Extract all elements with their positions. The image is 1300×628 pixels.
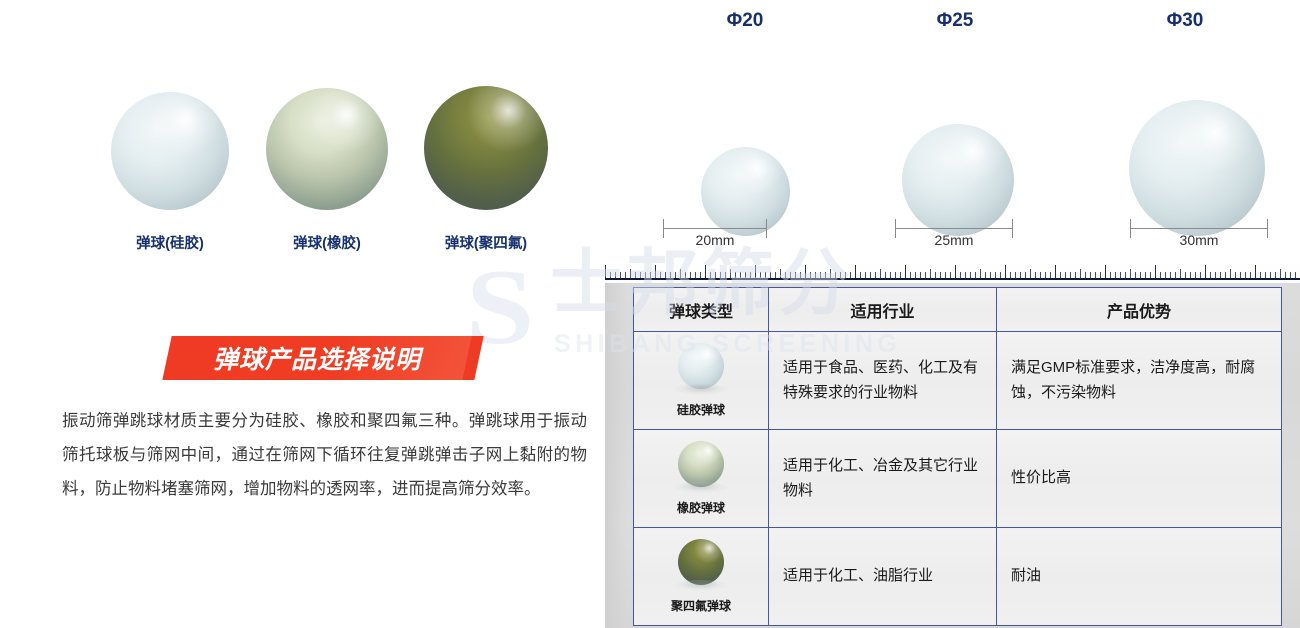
ruler-tick — [1265, 272, 1266, 278]
size-ball-20mm — [685, 147, 805, 236]
table-cell-advantage-silicone: 满足GMP标准要求，洁净度高，耐腐蚀，不污染物料 — [997, 332, 1282, 430]
ruler-tick — [1020, 272, 1021, 278]
ruler-tick — [1115, 272, 1116, 278]
ruler-tick — [785, 272, 786, 278]
ruler-tick — [670, 272, 671, 278]
table-row: 硅胶弹球 适用于食品、医药、化工及有特殊要求的行业物料 满足GMP标准要求，洁净… — [634, 332, 1282, 430]
ruler-tick — [1040, 272, 1041, 278]
ruler-tick — [1025, 272, 1026, 278]
table-cell-industry-rubber: 适用于化工、冶金及其它行业物料 — [769, 430, 997, 528]
ruler-tick — [655, 265, 656, 278]
ruler-tick — [735, 272, 736, 278]
rubber-ball-image — [266, 88, 388, 210]
ruler-tick — [740, 272, 741, 278]
table-ball-label-ptfe: 聚四氟弹球 — [638, 597, 764, 614]
dimension-line — [895, 228, 1013, 229]
ruler-tick — [780, 269, 781, 278]
table-header-type: 弹球类型 — [634, 288, 769, 332]
ruler-tick — [790, 272, 791, 278]
ruler-tick — [885, 272, 886, 278]
ruler-tick — [820, 272, 821, 278]
ruler-tick — [1180, 269, 1181, 278]
ruler-tick — [1050, 272, 1051, 278]
ruler-tick — [890, 272, 891, 278]
ruler-tick — [940, 272, 941, 278]
ruler-tick — [1095, 272, 1096, 278]
silicone-ball-image — [111, 92, 229, 210]
ruler-tick — [1250, 272, 1251, 278]
ruler-tick — [1055, 265, 1056, 278]
diameter-label-row: Φ20 Φ25 Φ30 — [605, 10, 1300, 40]
table-ptfe-ball-icon — [678, 539, 724, 585]
ruler-tick — [700, 272, 701, 278]
size-ball-25mm-image — [902, 124, 1014, 236]
ruler-tick — [1150, 272, 1151, 278]
ruler-tick — [1110, 272, 1111, 278]
ruler-tick — [1090, 272, 1091, 278]
diameter-label-phi30: Φ30 — [1105, 10, 1265, 32]
ruler-tick — [650, 272, 651, 278]
ruler-tick — [660, 272, 661, 278]
size-comparison-row — [605, 46, 1300, 236]
ruler-tick — [805, 265, 806, 278]
ruler-tick — [835, 272, 836, 278]
ruler-tick — [830, 269, 831, 278]
ruler-tick — [680, 269, 681, 278]
ruler-tick — [975, 272, 976, 278]
size-ball-25mm — [893, 124, 1023, 236]
ruler-tick — [955, 265, 956, 278]
dimension-label-20mm: 20mm — [663, 232, 767, 248]
ruler-tick — [920, 272, 921, 278]
dimension-label-25mm: 25mm — [895, 232, 1013, 248]
ruler-tick — [615, 272, 616, 278]
ruler-tick — [905, 265, 906, 278]
table-row: 聚四氟弹球 适用于化工、油脂行业 耐油 — [634, 528, 1282, 626]
ruler-tick — [960, 272, 961, 278]
ruler-tick — [845, 272, 846, 278]
ruler-tick — [970, 272, 971, 278]
ruler-tick — [950, 272, 951, 278]
ball-caption-rubber: 弹球(橡胶) — [262, 232, 392, 253]
ruler-tick — [725, 272, 726, 278]
size-ball-30mm — [1123, 100, 1271, 236]
diameter-label-phi25: Φ25 — [875, 10, 1035, 32]
ruler-tick — [1015, 272, 1016, 278]
ruler-tick — [1245, 272, 1246, 278]
left-panel: 弹球(硅胶) 弹球(橡胶) 弹球(聚四氟) 弹球产品选择说明 振动筛弹跳球材质主… — [0, 0, 605, 628]
section-banner: 弹球产品选择说明 — [162, 336, 471, 380]
ruler-tick — [1170, 272, 1171, 278]
ruler-tick — [1255, 265, 1256, 278]
ruler-tick — [875, 272, 876, 278]
dimension-indicator-20mm: 20mm — [663, 228, 767, 258]
ball-showcase-item-silicone: 弹球(硅胶) — [105, 92, 235, 253]
table-cell-type-rubber: 橡胶弹球 — [634, 430, 769, 528]
ruler-tick — [1190, 272, 1191, 278]
ruler-tick — [690, 272, 691, 278]
ruler-tick — [1175, 272, 1176, 278]
ruler-tick — [1140, 272, 1141, 278]
ruler-tick — [705, 265, 706, 278]
ruler-tick — [770, 272, 771, 278]
ruler-tick — [775, 272, 776, 278]
ruler-tick — [1270, 272, 1271, 278]
ruler-tick — [605, 265, 606, 278]
ruler-tick — [1105, 265, 1106, 278]
ruler-tick — [1215, 272, 1216, 278]
description-paragraph: 振动筛弹跳球材质主要分为硅胶、橡胶和聚四氟三种。弹跳球用于振动筛托球板与筛网中间… — [62, 405, 587, 506]
table-cell-advantage-rubber: 性价比高 — [997, 430, 1282, 528]
ruler-tick — [1065, 272, 1066, 278]
ruler-tick — [850, 272, 851, 278]
ruler-tick — [620, 272, 621, 278]
ruler-tick — [625, 272, 626, 278]
ruler-tick — [840, 272, 841, 278]
ruler-tick — [635, 272, 636, 278]
ruler-tick — [1200, 272, 1201, 278]
table-ball-label-silicone: 硅胶弹球 — [638, 401, 764, 418]
ruler-tick — [1120, 272, 1121, 278]
table-rubber-ball-icon — [678, 441, 724, 487]
ruler-tick — [900, 272, 901, 278]
ball-showcase-row: 弹球(硅胶) 弹球(橡胶) 弹球(聚四氟) — [0, 60, 605, 260]
ruler-tick — [930, 269, 931, 278]
ruler-tick — [985, 272, 986, 278]
ruler-tick — [915, 272, 916, 278]
ruler-tick — [995, 272, 996, 278]
ruler-tick — [800, 272, 801, 278]
ruler-tick — [1195, 272, 1196, 278]
dimension-line — [1130, 228, 1268, 229]
ruler-tick — [880, 269, 881, 278]
table-ball-label-rubber: 橡胶弹球 — [638, 499, 764, 516]
ruler-tick — [675, 272, 676, 278]
ruler-tick — [1285, 272, 1286, 278]
ruler-tick — [1235, 272, 1236, 278]
ruler-tick — [1125, 272, 1126, 278]
ruler-tick — [1295, 272, 1296, 278]
table-cell-advantage-ptfe: 耐油 — [997, 528, 1282, 626]
ruler-tick — [1185, 272, 1186, 278]
ruler-tick — [1260, 272, 1261, 278]
ruler-tick — [710, 272, 711, 278]
ruler-tick — [980, 269, 981, 278]
ruler-tick — [1165, 272, 1166, 278]
ruler-tick — [1275, 272, 1276, 278]
ball-caption-ptfe: 弹球(聚四氟) — [417, 232, 555, 253]
dimension-line — [663, 228, 767, 229]
dimension-indicator-25mm: 25mm — [895, 228, 1013, 258]
ruler-tick — [1085, 272, 1086, 278]
ball-showcase-item-rubber: 弹球(橡胶) — [262, 88, 392, 253]
ruler-tick — [1135, 272, 1136, 278]
ruler-tick — [640, 272, 641, 278]
dimension-label-30mm: 30mm — [1130, 232, 1268, 248]
table-cell-type-ptfe: 聚四氟弹球 — [634, 528, 769, 626]
ruler-graphic — [605, 261, 1300, 283]
ruler-tick — [1010, 272, 1011, 278]
ruler-tick — [755, 265, 756, 278]
ruler-tick — [1130, 269, 1131, 278]
ruler-tick — [1155, 265, 1156, 278]
ruler-tick — [895, 272, 896, 278]
ruler-tick — [1000, 272, 1001, 278]
ruler-tick — [1280, 269, 1281, 278]
ruler-tick — [715, 272, 716, 278]
table-row: 橡胶弹球 适用于化工、冶金及其它行业物料 性价比高 — [634, 430, 1282, 528]
ruler-tick — [795, 272, 796, 278]
ruler-tick — [925, 272, 926, 278]
ruler-tick — [720, 272, 721, 278]
ruler-tick — [1230, 269, 1231, 278]
ruler-tick — [1030, 269, 1031, 278]
ruler-tick — [965, 272, 966, 278]
ruler-tick — [815, 272, 816, 278]
ruler-tick — [760, 272, 761, 278]
ruler-tick — [1100, 272, 1101, 278]
ruler-tick — [1210, 272, 1211, 278]
diameter-label-phi20: Φ20 — [665, 10, 825, 32]
table-header-advantage: 产品优势 — [997, 288, 1282, 332]
ruler-tick — [825, 272, 826, 278]
table-silicone-ball-icon — [678, 343, 724, 389]
product-info-page: S 士邦筛分 SHIBANG SCREENING 弹球(硅胶) 弹球(橡胶) 弹… — [0, 0, 1300, 628]
table-header-industry: 适用行业 — [769, 288, 997, 332]
ruler-tick — [1035, 272, 1036, 278]
ruler-tick — [1045, 272, 1046, 278]
table-cell-industry-ptfe: 适用于化工、油脂行业 — [769, 528, 997, 626]
ruler-tick — [745, 272, 746, 278]
spec-table: 弹球类型 适用行业 产品优势 硅胶弹球 适用于食品、医药、化工及有特殊要求的行业… — [633, 287, 1282, 626]
ruler-tick — [910, 272, 911, 278]
ruler-tick — [695, 272, 696, 278]
ruler-tick — [1075, 272, 1076, 278]
ptfe-ball-image — [424, 86, 548, 210]
ruler-tick — [870, 272, 871, 278]
table-cell-industry-silicone: 适用于食品、医药、化工及有特殊要求的行业物料 — [769, 332, 997, 430]
ruler-tick — [685, 272, 686, 278]
ruler-tick — [1080, 269, 1081, 278]
ruler-tick — [1070, 272, 1071, 278]
ruler-tick — [645, 272, 646, 278]
size-ball-20mm-image — [701, 147, 790, 236]
ruler-tick — [990, 272, 991, 278]
ruler-tick — [945, 272, 946, 278]
ruler-tick — [765, 272, 766, 278]
ruler-tick — [1160, 272, 1161, 278]
ruler-tick — [1005, 265, 1006, 278]
ruler-tick — [865, 272, 866, 278]
dimension-indicator-30mm: 30mm — [1130, 228, 1268, 258]
ruler-tick — [1205, 265, 1206, 278]
ruler-tick — [1225, 272, 1226, 278]
ruler-tick — [1240, 272, 1241, 278]
ruler-tick — [730, 269, 731, 278]
ruler-tick — [855, 265, 856, 278]
ruler-tick — [1060, 272, 1061, 278]
size-ball-30mm-image — [1129, 100, 1265, 236]
ball-caption-silicone: 弹球(硅胶) — [105, 232, 235, 253]
ruler-tick — [810, 272, 811, 278]
ruler-tick — [1290, 272, 1291, 278]
ruler-tick — [750, 272, 751, 278]
table-header-row: 弹球类型 适用行业 产品优势 — [634, 288, 1282, 332]
ruler-baseline — [605, 278, 1300, 280]
ruler-tick — [1145, 272, 1146, 278]
section-banner-title: 弹球产品选择说明 — [167, 336, 467, 380]
ball-showcase-item-ptfe: 弹球(聚四氟) — [417, 86, 555, 253]
ruler-tick — [935, 272, 936, 278]
ruler-tick — [610, 272, 611, 278]
ruler-tick — [1220, 272, 1221, 278]
table-cell-type-silicone: 硅胶弹球 — [634, 332, 769, 430]
ruler-tick — [665, 272, 666, 278]
ruler-tick — [860, 272, 861, 278]
ruler-tick — [630, 269, 631, 278]
